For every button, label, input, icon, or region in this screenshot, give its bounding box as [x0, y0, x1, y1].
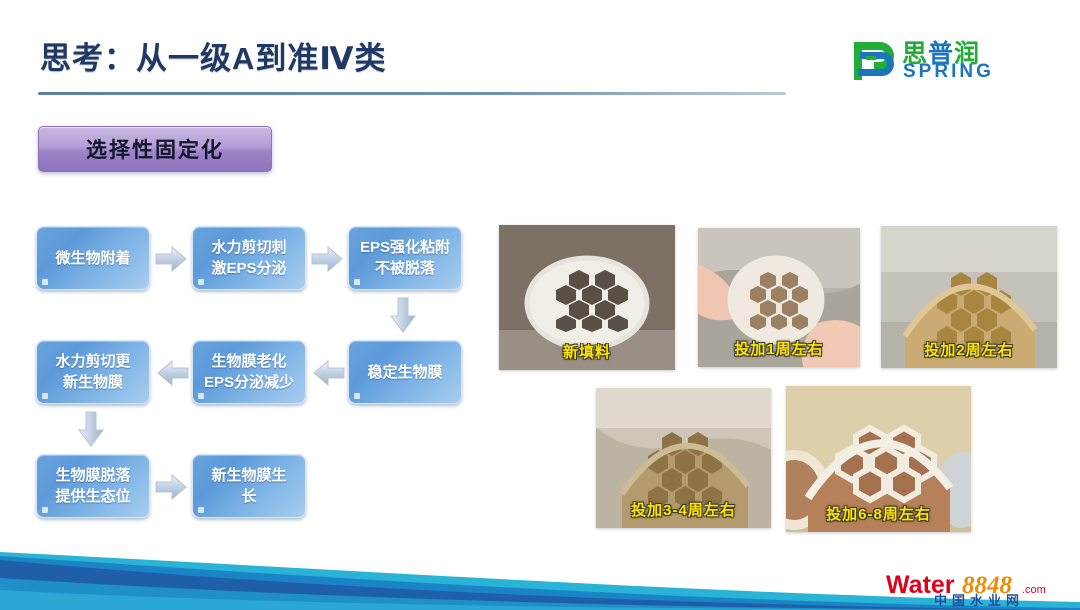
flow-box-handle — [198, 393, 204, 399]
flow-box-4-line1: 水力剪切更 — [55, 351, 130, 372]
flow-box-6-line1: 稳定生物膜 — [367, 364, 442, 381]
company-logo: 思普润 SPRING — [846, 36, 1022, 86]
flow-box-4-line2: 新生物膜 — [55, 372, 130, 393]
slide-canvas: 思考：从一级A到准Ⅳ类 思普润 SPRING 选择性固定化 微生物附着 — [0, 0, 1080, 610]
arrow-left-2-icon — [312, 358, 346, 388]
flow-box-8-line1: 新生物膜生 — [211, 465, 286, 486]
arrow-right-2-icon — [310, 244, 344, 274]
flow-box-5-line1: 生物膜老化 — [204, 351, 294, 372]
flow-box-5[interactable]: 生物膜老化 EPS分泌减少 — [192, 340, 306, 404]
page-title: 思考：从一级A到准Ⅳ类 — [40, 33, 386, 78]
photo-caption: 投加2周左右 — [881, 339, 1057, 360]
watermark-tld: .com — [1022, 584, 1046, 596]
flow-box-handle — [354, 393, 360, 399]
photo-caption: 新填料 — [499, 341, 675, 362]
flow-box-5-line2: EPS分泌减少 — [204, 372, 294, 393]
flow-box-handle — [354, 279, 360, 285]
arrow-down-2-icon — [76, 410, 106, 450]
watermark-brand-cn: 中国水业网 — [934, 593, 1024, 607]
process-flow-diagram: 微生物附着 水力剪切刺 激EPS分泌 EPS强化粘附 不被脱落 水力剪切更 新生… — [36, 212, 476, 532]
photo-week1[interactable]: 投加1周左右 — [698, 228, 860, 367]
flow-box-4[interactable]: 水力剪切更 新生物膜 — [36, 340, 150, 404]
flow-box-1-line1: 微生物附着 — [55, 250, 130, 267]
flow-box-handle — [198, 279, 204, 285]
title-underline — [38, 92, 786, 95]
flow-box-3-line1: EPS强化粘附 — [360, 237, 450, 258]
arrow-right-1-icon — [154, 244, 188, 274]
flow-box-7-line1: 生物膜脱落 — [55, 465, 130, 486]
flow-box-3-line2: 不被脱落 — [360, 258, 450, 279]
wechat-icon — [842, 550, 882, 583]
flow-box-1[interactable]: 微生物附着 — [36, 226, 150, 290]
flow-box-2-line1: 水力剪切刺 — [211, 237, 286, 258]
logo-name-en: SPRING — [903, 61, 994, 83]
photo-week2[interactable]: 投加2周左右 — [881, 226, 1057, 368]
arrow-left-1-icon — [156, 358, 190, 388]
flow-box-2-line2: 激EPS分泌 — [211, 258, 286, 279]
photo-caption: 投加1周左右 — [698, 338, 860, 359]
arrow-down-1-icon — [388, 296, 418, 336]
section-banner: 选择性固定化 — [38, 126, 272, 172]
flow-box-handle — [42, 393, 48, 399]
flow-box-6[interactable]: 稳定生物膜 — [348, 340, 462, 404]
flow-box-handle — [42, 279, 48, 285]
site-watermark: 中国给水排水 Water 8848 .com 中国水业网 — [838, 545, 1078, 607]
flow-box-3[interactable]: EPS强化粘附 不被脱落 — [348, 226, 462, 290]
section-banner-label: 选择性固定化 — [86, 134, 224, 164]
flow-box-2[interactable]: 水力剪切刺 激EPS分泌 — [192, 226, 306, 290]
photo-new-carrier[interactable]: 新填料 — [499, 225, 675, 370]
